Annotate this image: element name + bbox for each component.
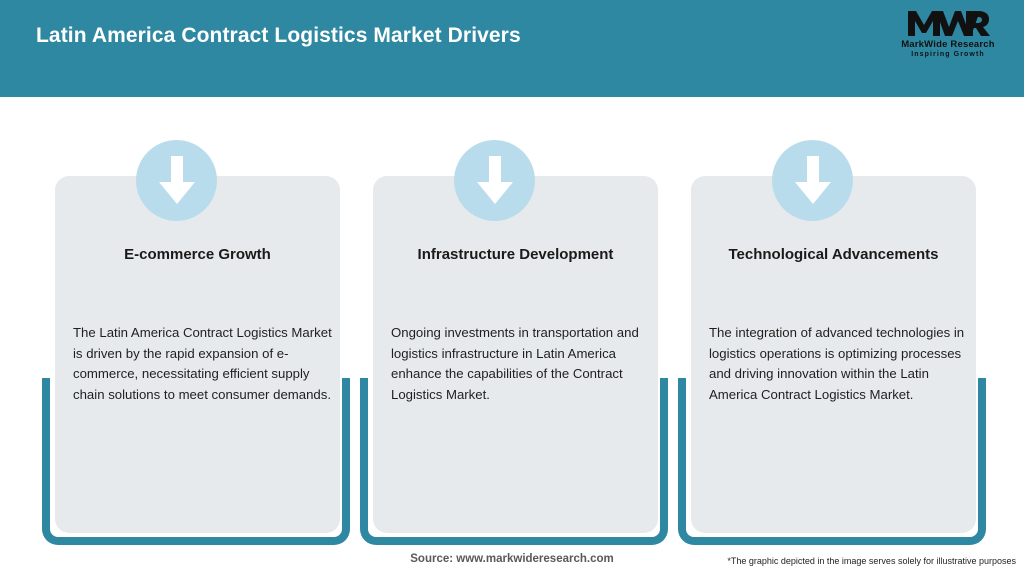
down-arrow-glyph	[157, 154, 197, 206]
page-title: Latin America Contract Logistics Market …	[36, 24, 521, 48]
driver-card: E-commerce Growth The Latin America Cont…	[42, 97, 350, 537]
card-body-text: Ongoing investments in transportation an…	[391, 323, 658, 405]
logo-tagline: Inspiring Growth	[890, 50, 1006, 59]
down-arrow-icon	[136, 140, 217, 221]
logo-company-name: MarkWide Research	[890, 39, 1006, 50]
card-body-text: The integration of advanced technologies…	[709, 323, 976, 405]
card-title: E-commerce Growth	[55, 245, 340, 264]
down-arrow-icon	[772, 140, 853, 221]
card-title: Technological Advancements	[691, 245, 976, 264]
header-bar: Latin America Contract Logistics Market …	[0, 0, 1024, 97]
mwr-logo-icon	[906, 8, 990, 38]
down-arrow-glyph	[475, 154, 515, 206]
down-arrow-glyph	[793, 154, 833, 206]
footer-disclaimer: *The graphic depicted in the image serve…	[727, 556, 1016, 566]
driver-card: Infrastructure Development Ongoing inves…	[360, 97, 668, 537]
driver-cards-container: E-commerce Growth The Latin America Cont…	[0, 97, 1024, 537]
card-title: Infrastructure Development	[373, 245, 658, 264]
down-arrow-icon	[454, 140, 535, 221]
card-body-text: The Latin America Contract Logistics Mar…	[73, 323, 340, 405]
brand-logo: MarkWide Research Inspiring Growth	[890, 8, 1006, 64]
driver-card: Technological Advancements The integrati…	[678, 97, 986, 537]
